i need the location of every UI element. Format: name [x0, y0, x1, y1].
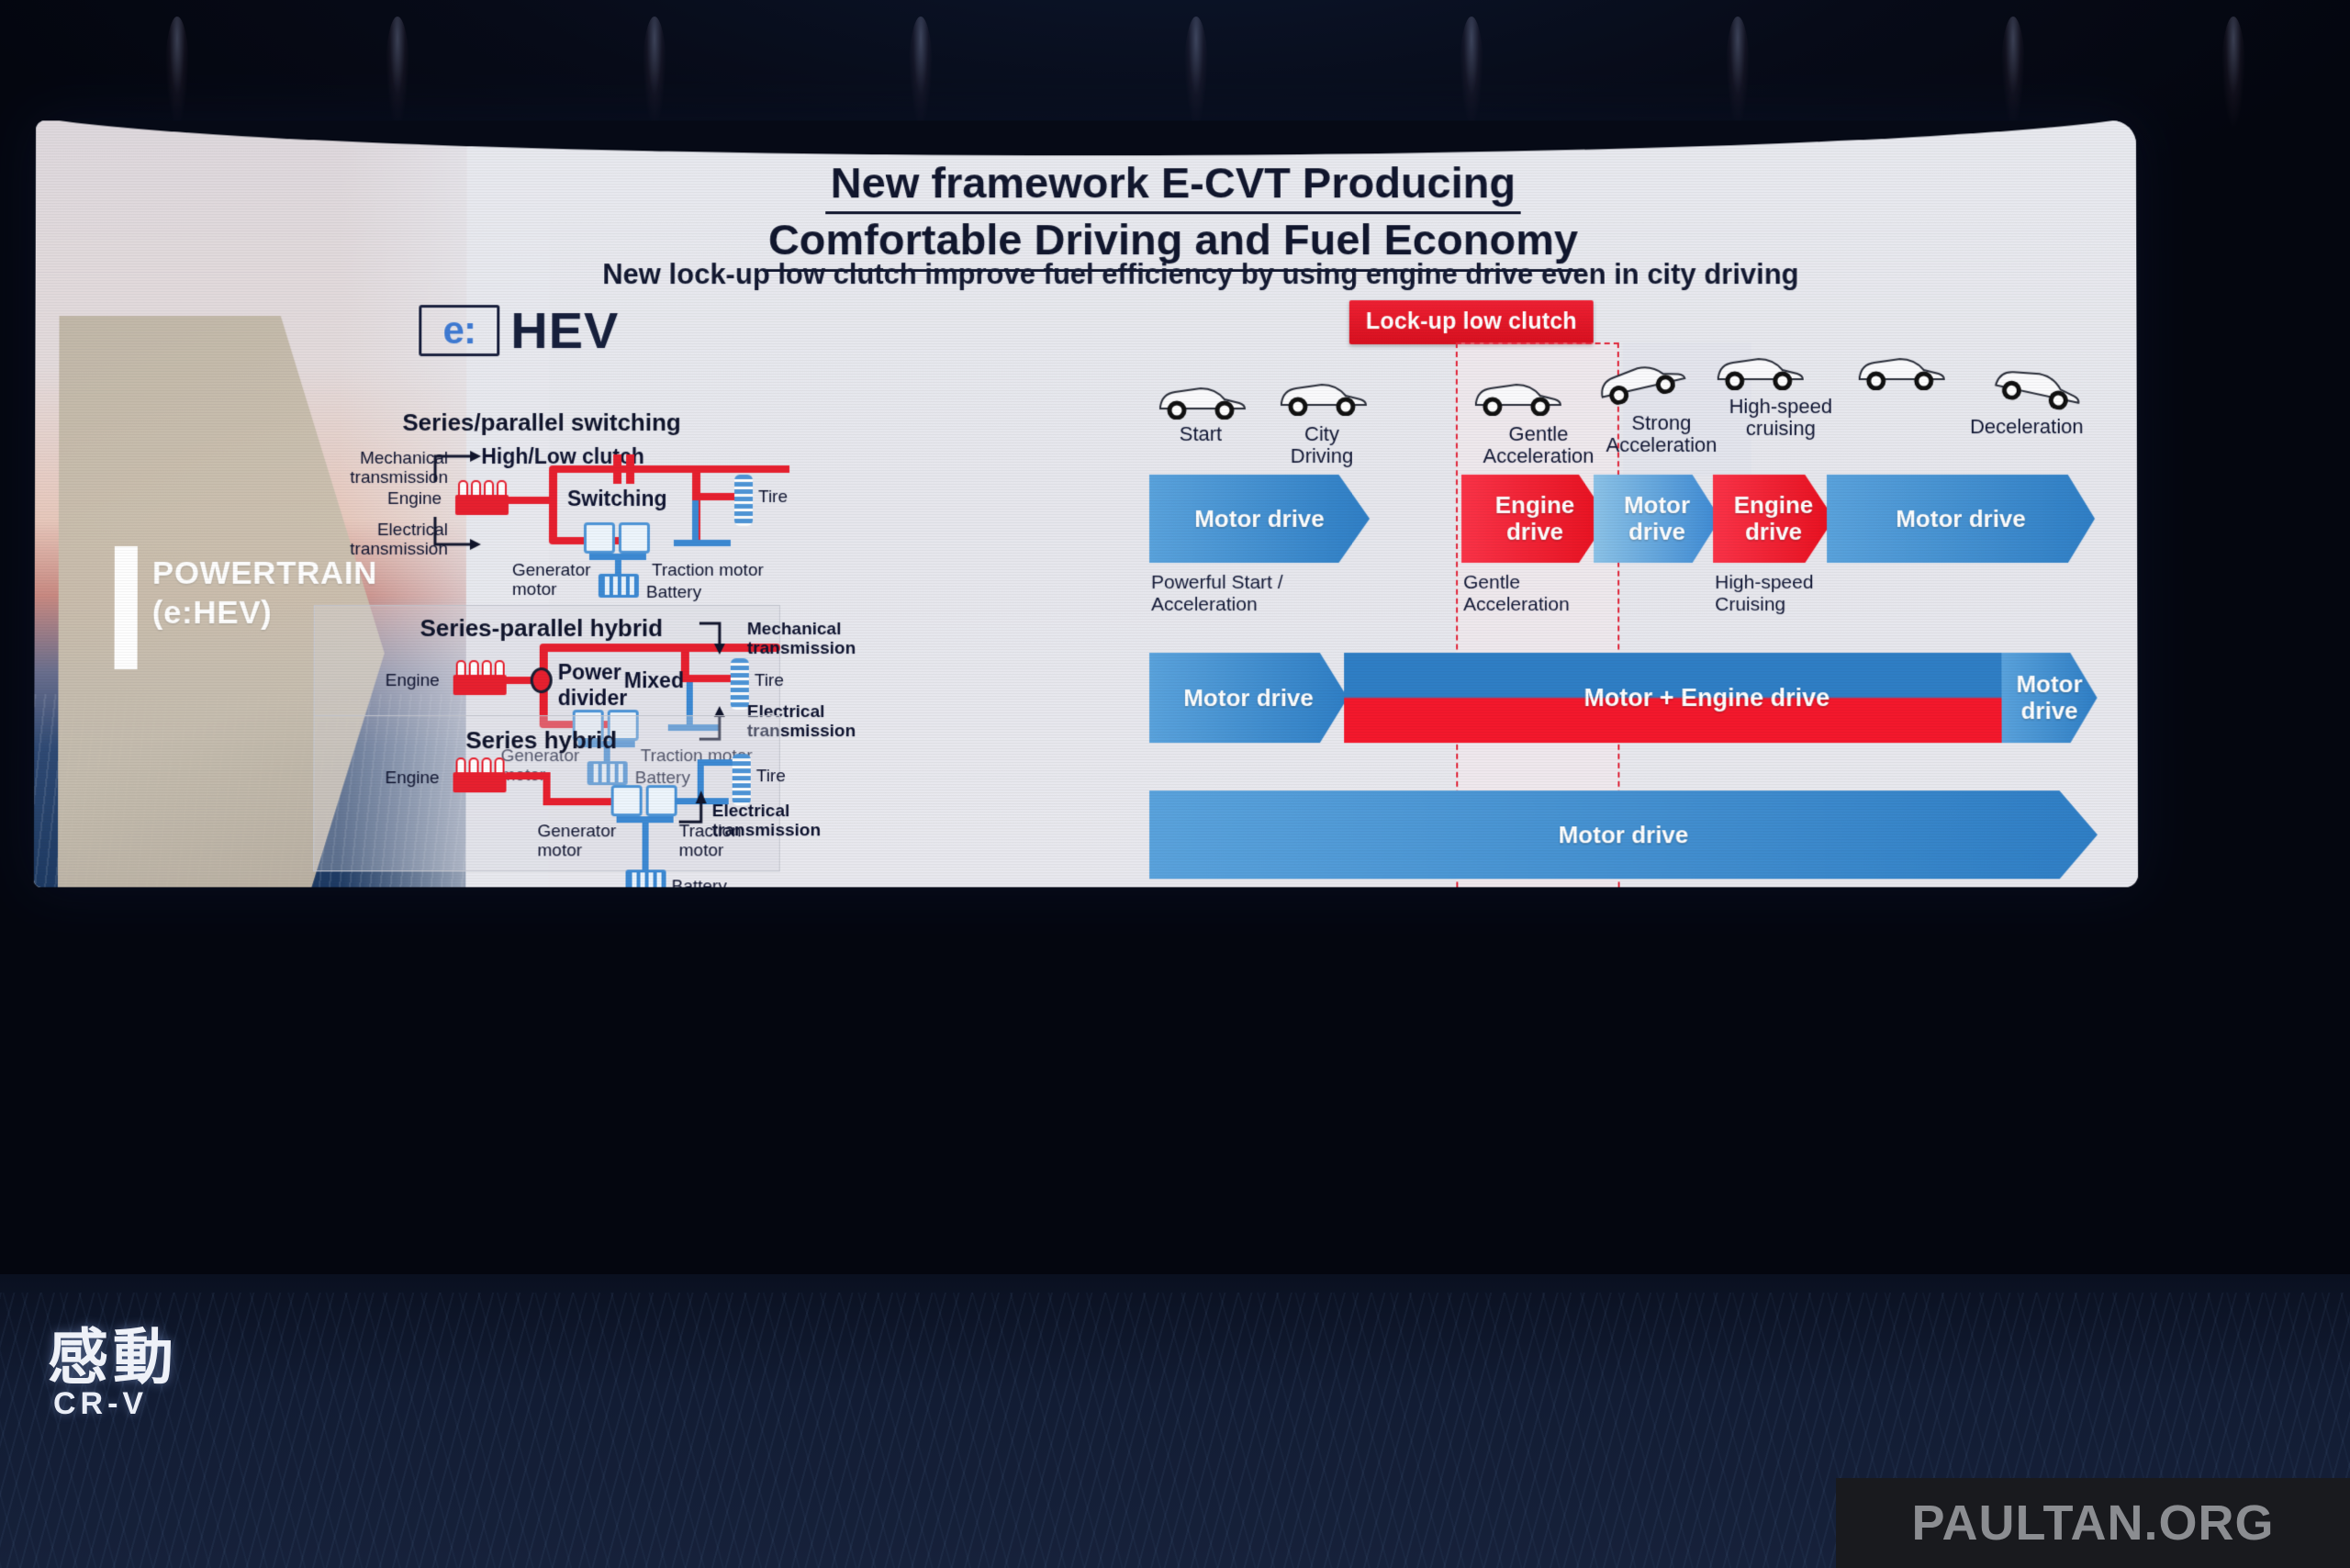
- diagram-series-hybrid: Series hybrid Engine Tire: [302, 719, 780, 884]
- car-icon-decline: [1986, 352, 2089, 415]
- clutch-plate-left: [613, 454, 621, 484]
- diagram-3-generator-label: Generator motor: [537, 822, 616, 861]
- diagram-1-tire-label: Tire: [758, 487, 788, 507]
- row2-segment-motor-plus-engine: Motor + Engine drive: [1344, 653, 2070, 743]
- diagram-1-engine-label: Engine: [387, 489, 442, 509]
- generator-motor-icon: [611, 785, 643, 816]
- battery-icon: [625, 869, 666, 887]
- engine-icon: [453, 757, 506, 792]
- truss-light-icon: [1184, 17, 1208, 127]
- switch-loop-left: [549, 467, 557, 543]
- phase-label-deceleration: Deceleration: [1953, 416, 2100, 438]
- row2-segment-motor-drive-2: Motor drive: [2001, 653, 2097, 743]
- clutch-plate-right: [626, 454, 634, 484]
- engine-icon: [453, 660, 507, 695]
- row2-motor-plus-engine-label: Motor + Engine drive: [1583, 684, 1830, 712]
- diagram-3-battery-label: Battery: [672, 877, 727, 887]
- battery-icon: [599, 574, 639, 598]
- motor-bus-wire: [589, 554, 646, 560]
- row1-segment-engine-drive: Engine drive: [1461, 475, 1608, 563]
- slide-title-line1: New framework E-CVT Producing: [825, 157, 1521, 214]
- truss-light-icon: [1460, 17, 1483, 127]
- kando-kanji-logo: 感動: [48, 1308, 178, 1396]
- row1-segment-motor-drive: Motor drive: [1149, 475, 1370, 563]
- row1-caption-high-speed-cruising: High-speed Cruising: [1715, 572, 1814, 616]
- ehev-logo: e: HEV: [419, 300, 619, 360]
- tire-vertical-wire: [692, 500, 699, 544]
- truss-light-icon: [643, 17, 666, 127]
- row1-caption-gentle-acceleration: Gentle Acceleration: [1463, 572, 1570, 616]
- mechanical-bracket-icon: [431, 449, 487, 484]
- diagram-2-engine-label: Engine: [386, 671, 440, 690]
- diagram-2-tire-label: Tire: [755, 671, 784, 690]
- crv-model-logo: CR-V: [53, 1386, 148, 1422]
- diagram-1-battery-label: Battery: [646, 583, 701, 602]
- engine-icon: [455, 480, 509, 515]
- traction-to-tire-wire: [674, 540, 731, 546]
- diagram-3-engine-label: Engine: [385, 768, 439, 788]
- power-divider-node-icon: [531, 667, 553, 693]
- truss-light-icon: [1726, 17, 1750, 127]
- ehev-badge: e:: [419, 305, 499, 356]
- traction-motor-icon: [646, 785, 677, 816]
- diagram-1-switching-label: Switching: [567, 487, 667, 511]
- diagram-1-title: Series/parallel switching: [303, 409, 780, 437]
- truss-light-icon: [909, 17, 933, 127]
- diagram-2-mechanical-label: Mechanical transmission: [747, 620, 856, 659]
- diagram-2-power-divider-label: Power divider: [558, 660, 628, 711]
- tire-icon: [733, 754, 751, 805]
- paultan-watermark: PAULTAN.ORG: [1836, 1478, 2350, 1568]
- diagram-2-mixed-label: Mixed: [624, 669, 684, 693]
- slide-subtitle: New lock-up low clutch improve fuel effi…: [420, 258, 1980, 291]
- tire-icon: [734, 475, 753, 526]
- divider-to-tire-wire: [681, 675, 736, 682]
- slide-title: New framework E-CVT Producing Comfortabl…: [549, 157, 1796, 272]
- row1-segment-motor-drive-3: Motor drive: [1827, 475, 2095, 563]
- truss-light-icon: [2221, 17, 2245, 127]
- diagram-series-parallel-switching: Series/parallel switching Mechanical tra…: [303, 409, 780, 601]
- led-wall: POWERTRAIN (e:HEV) New framework E-CVT P…: [35, 120, 2137, 887]
- diagram-1-generator-label: Generator motor: [512, 561, 591, 600]
- truss-light-icon: [386, 17, 409, 127]
- watermark-text: PAULTAN.ORG: [1912, 1495, 2275, 1551]
- engine-to-gen-wire: [543, 798, 615, 805]
- diagram-3-tire-label: Tire: [756, 767, 786, 786]
- row1-segment-motor-drive-2: Motor drive: [1594, 475, 1720, 563]
- truss-light-icon: [2001, 17, 2025, 127]
- hybrid-diagrams-column: e: HEV Series/parallel switching Mechani…: [302, 300, 780, 879]
- row1-segment-engine-drive-2: Engine drive: [1713, 475, 1834, 563]
- car-icon: [1274, 372, 1370, 416]
- generator-motor-icon: [584, 522, 615, 554]
- motors-to-battery-wire-3: [643, 818, 649, 871]
- ehev-wordmark: HEV: [510, 300, 619, 360]
- row1-caption-powerful-start: Powerful Start / Acceleration: [1151, 572, 1283, 616]
- drive-mode-timeline: Lock-up low clutch Start City Driving Ge…: [1146, 300, 2103, 887]
- car-icon: [1153, 375, 1248, 420]
- car-icon: [1852, 346, 1948, 390]
- mechanical-bracket-icon: [698, 620, 753, 656]
- diagram-3-title: Series hybrid: [302, 726, 779, 755]
- diagram-3-traction-label: Traction motor: [679, 822, 742, 861]
- powertrain-accent-bar: [115, 546, 138, 669]
- electrical-bracket-icon: [431, 513, 487, 552]
- presentation-slide: POWERTRAIN (e:HEV) New framework E-CVT P…: [34, 120, 2138, 887]
- car-icon: [1711, 346, 1807, 390]
- phase-label-city-driving: City Driving: [1248, 423, 1395, 467]
- truss-light-icon: [165, 17, 189, 127]
- traction-motor-icon: [619, 522, 650, 554]
- car-icon: [1469, 372, 1564, 416]
- diagram-1-traction-label: Traction motor: [652, 561, 764, 580]
- lock-up-low-clutch-badge: Lock-up low clutch: [1349, 300, 1594, 344]
- phase-label-high-speed-cruising: High-speed cruising: [1707, 396, 1854, 440]
- row2-segment-motor-drive: Motor drive: [1149, 653, 1348, 743]
- row3-segment-motor-drive: Motor drive: [1149, 790, 2098, 879]
